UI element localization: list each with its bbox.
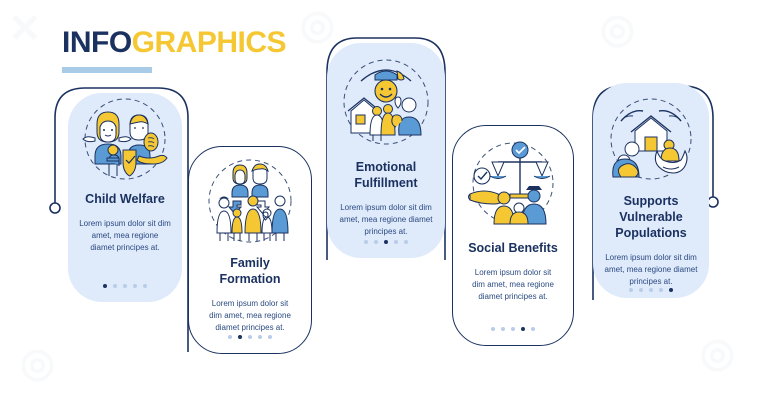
family-formation-icon xyxy=(189,153,311,249)
step-card-family-formation[interactable]: Family Formation Lorem ipsum dolor sit d… xyxy=(188,146,312,354)
card-body: Lorem ipsum dolor sit dim amet, mea regi… xyxy=(327,202,445,238)
step-dot-2[interactable] xyxy=(639,288,643,292)
step-card-child-welfare[interactable]: Child Welfare Lorem ipsum dolor sit dim … xyxy=(68,93,182,302)
card-body: Lorem ipsum dolor sit dim amet, mea regi… xyxy=(68,218,182,254)
supports-vulnerable-populations-icon xyxy=(593,91,709,187)
step-dot-4[interactable] xyxy=(394,240,398,244)
step-dot-2[interactable] xyxy=(238,335,242,339)
step-card-social-benefits[interactable]: Social Benefits Lorem ipsum dolor sit di… xyxy=(452,125,574,346)
watermark: ◎ xyxy=(600,6,635,52)
step-dot-5[interactable] xyxy=(531,327,535,331)
step-dot-4[interactable] xyxy=(659,288,663,292)
step-dots[interactable] xyxy=(364,240,408,258)
step-dot-3[interactable] xyxy=(123,284,127,288)
social-benefits-icon xyxy=(453,134,573,234)
step-dot-4[interactable] xyxy=(133,284,137,288)
step-card-supports-vulnerable-populations[interactable]: Supports Vulnerable Populations Lorem ip… xyxy=(593,83,709,298)
step-dot-2[interactable] xyxy=(374,240,378,244)
step-dot-1[interactable] xyxy=(103,284,107,288)
card-title: Child Welfare xyxy=(75,191,175,207)
watermark: ◎ xyxy=(700,330,735,376)
step-dot-3[interactable] xyxy=(649,288,653,292)
card-body: Lorem ipsum dolor sit dim amet, mea regi… xyxy=(593,252,709,288)
step-dot-4[interactable] xyxy=(521,327,525,331)
page-title: INFOGRAPHICS xyxy=(62,28,286,73)
title-underline-rule xyxy=(62,67,152,73)
card-title: Supports Vulnerable Populations xyxy=(593,193,709,241)
step-dots[interactable] xyxy=(629,288,673,298)
child-welfare-icon xyxy=(68,93,182,185)
card-title: Social Benefits xyxy=(458,240,568,256)
start-node-circle xyxy=(50,203,60,213)
step-dot-1[interactable] xyxy=(629,288,633,292)
step-dots[interactable] xyxy=(228,335,272,353)
step-dot-1[interactable] xyxy=(364,240,368,244)
title-text: INFOGRAPHICS xyxy=(62,28,286,58)
step-dot-5[interactable] xyxy=(404,240,408,244)
step-dot-5[interactable] xyxy=(669,288,673,292)
step-dots[interactable] xyxy=(491,327,535,345)
title-graphics-part: GRAPHICS xyxy=(132,26,286,59)
step-dot-5[interactable] xyxy=(143,284,147,288)
card-title: Family Formation xyxy=(189,255,311,287)
card-body: Lorem ipsum dolor sit dim amet, mea regi… xyxy=(453,267,573,303)
step-dot-2[interactable] xyxy=(501,327,505,331)
step-dot-3[interactable] xyxy=(384,240,388,244)
step-dot-3[interactable] xyxy=(511,327,515,331)
title-info-part: INFO xyxy=(62,26,132,59)
step-dot-4[interactable] xyxy=(258,335,262,339)
end-node-circle xyxy=(708,197,718,207)
step-dot-3[interactable] xyxy=(248,335,252,339)
step-dot-1[interactable] xyxy=(228,335,232,339)
step-dot-5[interactable] xyxy=(268,335,272,339)
watermark: ◎ xyxy=(300,2,335,48)
card-body: Lorem ipsum dolor sit dim amet, mea regi… xyxy=(189,298,311,334)
step-dots[interactable] xyxy=(103,284,147,302)
card-title: Emotional Fulfillment xyxy=(327,159,445,191)
emotional-fulfillment-icon xyxy=(327,51,445,153)
infographic-canvas: ✕ ◎ ◎ ◎ ◎ INFOGRAPHICS xyxy=(0,0,768,404)
step-dot-1[interactable] xyxy=(491,327,495,331)
step-card-emotional-fulfillment[interactable]: Emotional Fulfillment Lorem ipsum dolor … xyxy=(327,43,445,258)
step-dot-2[interactable] xyxy=(113,284,117,288)
watermark: ◎ xyxy=(20,340,55,386)
watermark: ✕ xyxy=(8,6,42,52)
